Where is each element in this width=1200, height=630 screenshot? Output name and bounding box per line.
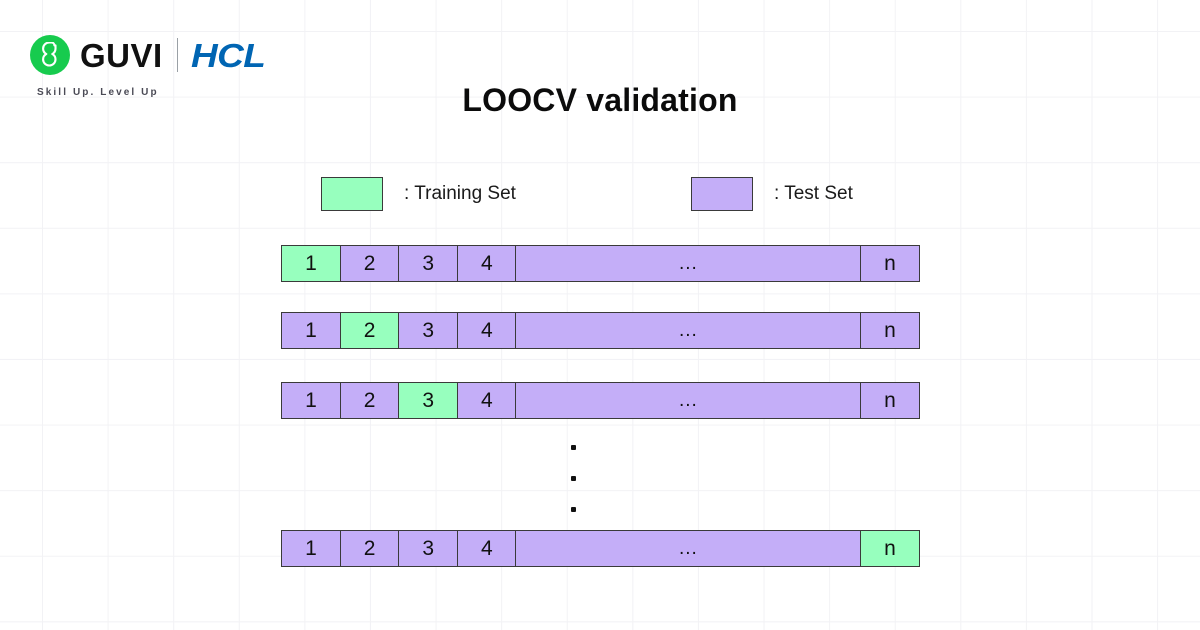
legend-label-test-set: : Test Set (774, 183, 853, 205)
fold-cell: 1 (281, 245, 341, 282)
slide-content: GUVI HCL Skill Up. Level Up LOOCV valida… (0, 0, 1200, 630)
fold-row: 1 2 3 4 ... n (281, 382, 920, 419)
fold-cell: 1 (281, 382, 341, 419)
fold-cell-ellipsis: ... (515, 382, 861, 419)
fold-cell: 1 (281, 530, 341, 567)
fold-cell: 4 (457, 530, 517, 567)
legend-swatch-training-set (321, 177, 383, 211)
hcl-wordmark: HCL (191, 39, 265, 72)
fold-cell-ellipsis: ... (515, 530, 861, 567)
legend-label-training-set: : Training Set (404, 183, 516, 205)
fold-cell: 1 (281, 312, 341, 349)
fold-cell: 3 (398, 312, 458, 349)
ellipsis-dot (571, 507, 576, 512)
vertical-ellipsis-icon (571, 443, 581, 521)
legend: : Training Set : Test Set (281, 176, 921, 212)
fold-cell: 3 (398, 382, 458, 419)
legend-item-training-set: : Training Set (321, 176, 516, 212)
ellipsis-dot (571, 445, 576, 450)
fold-cell: 2 (340, 245, 400, 282)
fold-cell: 2 (340, 312, 400, 349)
fold-cell: 4 (457, 382, 517, 419)
fold-cell-ellipsis: ... (515, 312, 861, 349)
legend-swatch-test-set (691, 177, 753, 211)
fold-row: 1 2 3 4 ... n (281, 530, 920, 567)
fold-row: 1 2 3 4 ... n (281, 245, 920, 282)
brand-row: GUVI HCL (30, 32, 360, 78)
fold-cell: n (860, 530, 920, 567)
guvi-g-logo-icon (30, 35, 70, 75)
fold-cell: 3 (398, 245, 458, 282)
fold-cell: 2 (340, 382, 400, 419)
fold-cell: n (860, 245, 920, 282)
fold-cell: n (860, 382, 920, 419)
fold-cell: 2 (340, 530, 400, 567)
ellipsis-dot (571, 476, 576, 481)
brand-divider (177, 38, 179, 72)
page-title: LOOCV validation (0, 82, 1200, 119)
fold-cell-ellipsis: ... (515, 245, 861, 282)
fold-row: 1 2 3 4 ... n (281, 312, 920, 349)
legend-item-test-set: : Test Set (691, 176, 853, 212)
guvi-wordmark: GUVI (80, 39, 163, 72)
fold-cell: 4 (457, 312, 517, 349)
fold-cell: n (860, 312, 920, 349)
fold-cell: 3 (398, 530, 458, 567)
fold-cell: 4 (457, 245, 517, 282)
